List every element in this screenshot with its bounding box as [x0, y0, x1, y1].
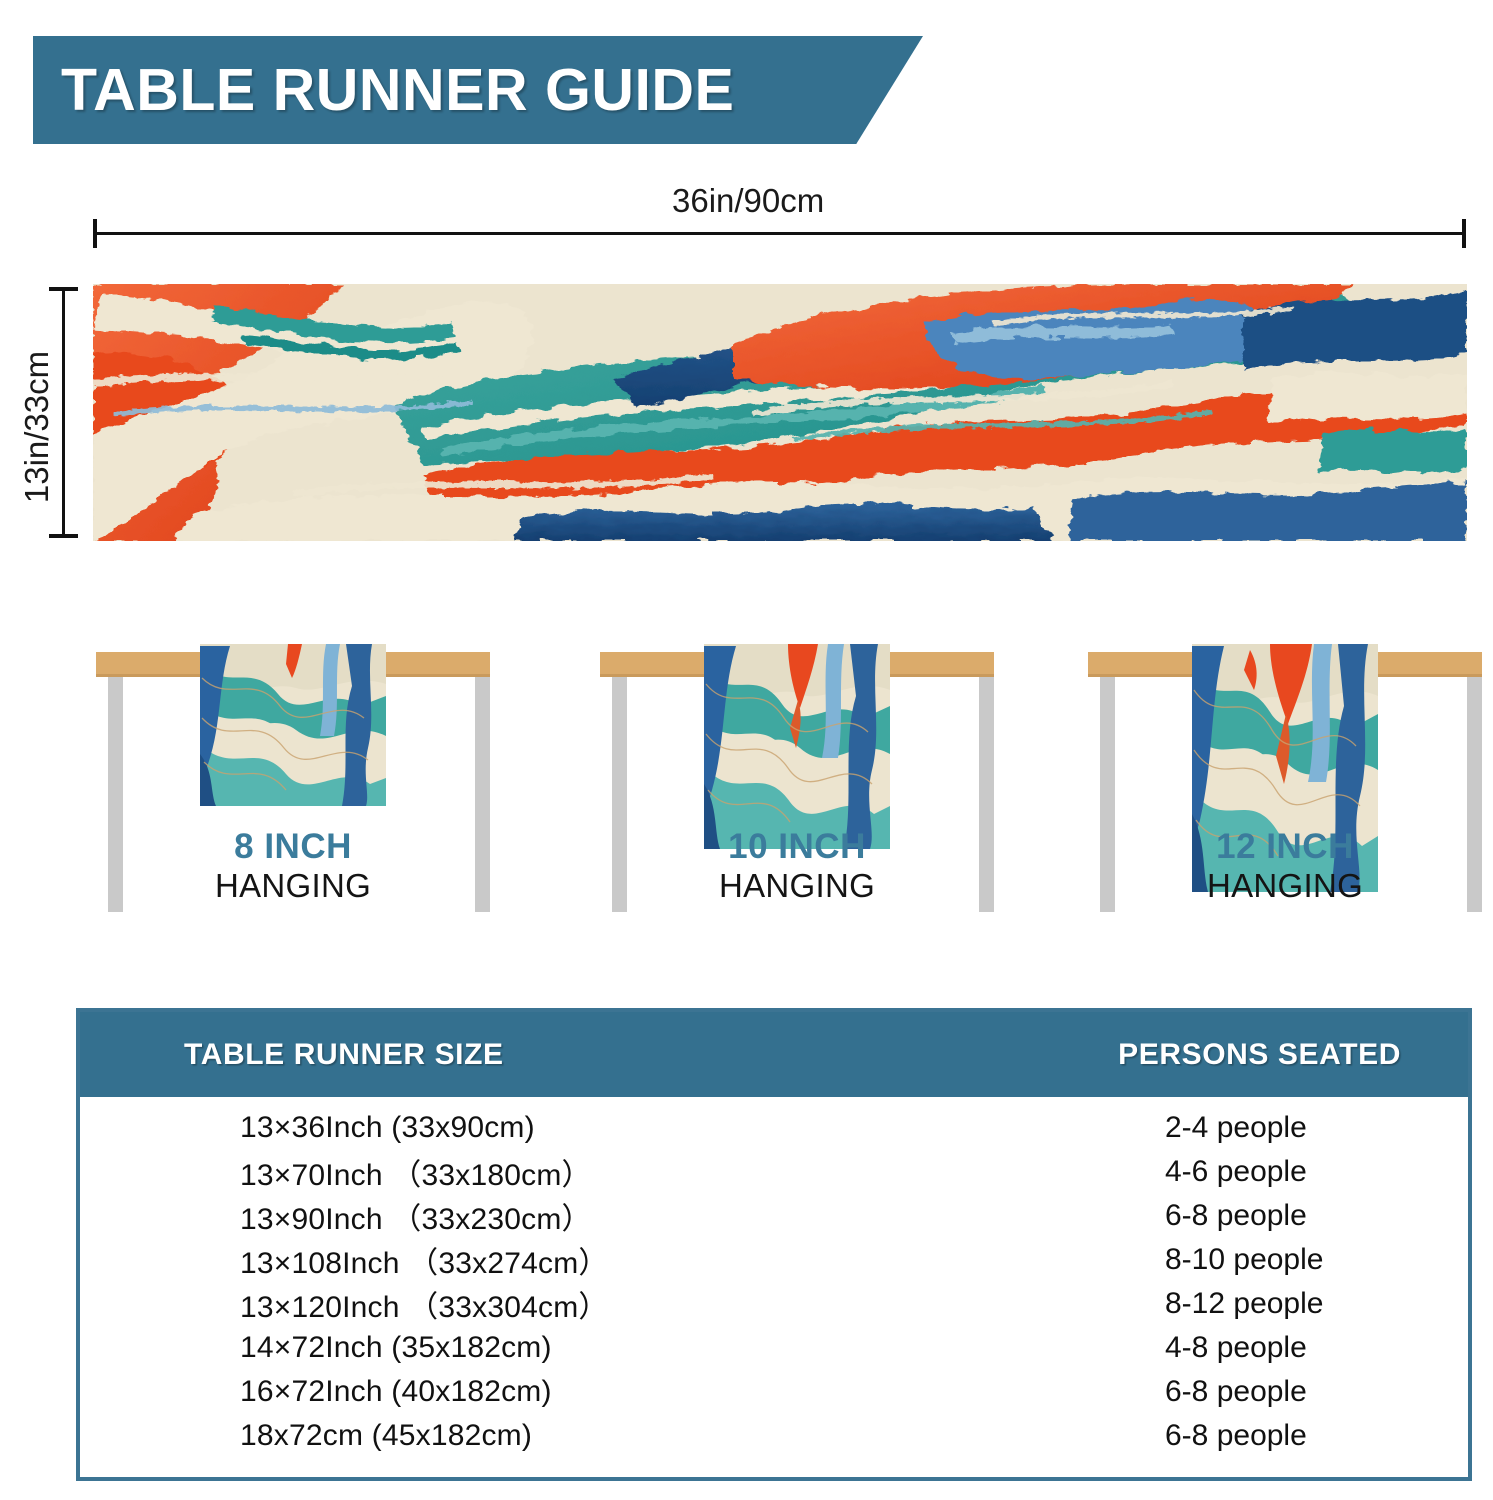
hanging-word: HANGING [96, 867, 490, 905]
hanging-runner-swatch [200, 644, 386, 806]
cell-persons: 8-10 people [1165, 1243, 1323, 1277]
hanging-label-12: 12 INCH HANGING [1088, 828, 1482, 904]
hanging-examples-group: 8 INCH HANGING [0, 600, 1493, 940]
table-row: 13×70Inch （33x180cm） 4-6 people [80, 1150, 1468, 1194]
hanging-label-10: 10 INCH HANGING [600, 828, 994, 904]
size-table-body: 13×36Inch (33x90cm) 2-4 people 13×70Inch… [80, 1097, 1468, 1477]
cell-persons: 8-12 people [1165, 1287, 1323, 1321]
hanging-label-8: 8 INCH HANGING [96, 828, 490, 904]
table-runner-guide-page: TABLE RUNNER GUIDE 36in/90cm 13in/33cm [0, 0, 1493, 1500]
table-row: 13×108Inch （33x274cm） 8-10 people [80, 1238, 1468, 1282]
cell-persons: 6-8 people [1165, 1375, 1307, 1409]
hanging-example-12-inch: 12 INCH HANGING [1088, 600, 1493, 940]
table-row: 14×72Inch (35x182cm) 4-8 people [80, 1326, 1468, 1370]
cell-size: 13×36Inch (33x90cm) [240, 1111, 535, 1145]
size-table-header-row: TABLE RUNNER SIZE PERSONS SEATED [80, 1012, 1468, 1097]
runner-preview-image [93, 284, 1467, 541]
cell-size: 14×72Inch (35x182cm) [240, 1331, 552, 1365]
hanging-word: HANGING [600, 867, 994, 905]
cell-persons: 2-4 people [1165, 1111, 1307, 1145]
column-header-persons: PERSONS SEATED [1118, 1038, 1401, 1072]
cell-size: 18x72cm (45x182cm) [240, 1419, 532, 1453]
width-dimension-line [93, 232, 1466, 235]
column-header-size: TABLE RUNNER SIZE [184, 1038, 504, 1072]
runner-width-label: 36in/90cm [672, 182, 824, 220]
cell-persons: 6-8 people [1165, 1199, 1307, 1233]
marbled-wave-pattern-svg [93, 284, 1467, 541]
cell-size: 13×108Inch （33x274cm） [240, 1238, 609, 1282]
cell-size: 16×72Inch (40x182cm) [240, 1375, 552, 1409]
runner-height-label: 13in/33cm [18, 312, 56, 542]
hanging-word: HANGING [1088, 867, 1482, 905]
cell-persons: 4-8 people [1165, 1331, 1307, 1365]
hanging-inch-value: 12 INCH [1088, 828, 1482, 867]
cell-size: 13×70Inch （33x180cm） [240, 1150, 592, 1194]
hanging-wave-pattern-10 [704, 644, 890, 849]
table-row: 16×72Inch (40x182cm) 6-8 people [80, 1370, 1468, 1414]
hanging-example-8-inch: 8 INCH HANGING [96, 600, 516, 940]
size-table: TABLE RUNNER SIZE PERSONS SEATED 13×36In… [76, 1008, 1472, 1481]
hanging-inch-value: 10 INCH [600, 828, 994, 867]
table-row: 13×90Inch （33x230cm） 6-8 people [80, 1194, 1468, 1238]
table-row: 13×120Inch （33x304cm） 8-12 people [80, 1282, 1468, 1326]
header-banner: TABLE RUNNER GUIDE [33, 36, 923, 144]
cell-persons: 6-8 people [1165, 1419, 1307, 1453]
hanging-runner-swatch [704, 644, 890, 849]
cell-size: 13×120Inch （33x304cm） [240, 1282, 609, 1326]
hanging-inch-value: 8 INCH [96, 828, 490, 867]
cell-persons: 4-6 people [1165, 1155, 1307, 1189]
table-row: 13×36Inch (33x90cm) 2-4 people [80, 1106, 1468, 1150]
page-title: TABLE RUNNER GUIDE [61, 56, 734, 124]
hanging-example-10-inch: 10 INCH HANGING [600, 600, 1020, 940]
hanging-wave-pattern-8 [200, 644, 386, 806]
cell-size: 13×90Inch （33x230cm） [240, 1194, 592, 1238]
height-dimension-line [62, 287, 65, 538]
table-row: 18x72cm (45x182cm) 6-8 people [80, 1414, 1468, 1458]
